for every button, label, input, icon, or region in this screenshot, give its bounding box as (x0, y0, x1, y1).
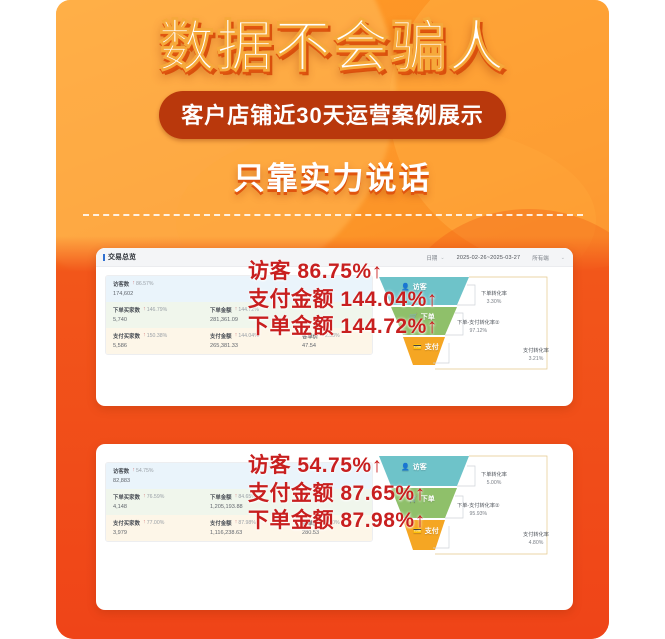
metric-cell[interactable]: 支付买家数 ↑ 150.38% 5,586 (106, 328, 203, 354)
conversion-label: 下单-支付转化率② (457, 503, 500, 511)
arrow-up-icon: ↑ (143, 494, 146, 500)
metric-label: 访客数 (113, 467, 129, 475)
metric-delta-value: 54.75% (136, 468, 154, 474)
conversion-value: 5.00% (487, 480, 502, 486)
highlight-value: 54.75% (297, 454, 371, 477)
arrow-up-icon: ↑ (132, 468, 135, 474)
arrow-up-icon: ↑ (427, 288, 438, 311)
metric-delta: ↑ 86.57% (132, 281, 153, 287)
card-title: 交易总览 (103, 252, 136, 262)
metric-cell[interactable]: 访客数 ↑ 86.57% 174,602 (106, 276, 203, 302)
title-accent-bar (103, 254, 105, 261)
metric-delta-value: 86.57% (136, 281, 154, 287)
highlight-line: 下单金额 87.98%↑ (248, 507, 426, 535)
terminal-filter-label: 所有端 (532, 254, 549, 262)
metric-delta-value: 146.79% (147, 307, 167, 313)
conversion-value: 97.12% (470, 328, 488, 334)
metric-delta-value: 77.00% (147, 520, 165, 526)
highlight-line: 支付金额 144.04%↑ (248, 286, 438, 314)
metric-delta: ↑ 150.38% (143, 333, 167, 339)
chevron-down-icon: ⌄ (440, 255, 444, 261)
conversion-label: 下单-支付转化率② (457, 320, 500, 328)
poster-page: 数据不会骗人 客户店铺近30天运营案例展示 只靠实力说话 交易总览 日期 ⌄ 2… (0, 0, 665, 639)
metric-value: 5,586 (113, 343, 203, 349)
chevron-down-icon-2[interactable]: ⌄ (561, 255, 565, 261)
highlight-value: 86.75% (297, 260, 371, 283)
highlight-value: 87.98% (340, 509, 414, 532)
highlight-line: 下单金额 144.72%↑ (248, 313, 438, 341)
highlight-label: 下单金额 (248, 509, 334, 532)
metric-value: 4,148 (113, 504, 203, 510)
poster-headline: 数据不会骗人 (56, 18, 609, 77)
arrow-up-icon: ↑ (143, 307, 146, 313)
conversion-label: 下单转化率 (481, 472, 507, 480)
terminal-filter[interactable]: 所有端 (532, 254, 549, 262)
metric-value: 174,602 (113, 291, 203, 297)
highlight-value: 144.72% (340, 315, 426, 338)
highlight-line: 支付金额 87.65%↑ (248, 480, 426, 508)
metric-label: 下单买家数 (113, 306, 140, 314)
conversion-rate-order-to-pay: 下单-支付转化率② 95.93% (457, 503, 500, 519)
conversion-label: 支付转化率 (523, 532, 549, 540)
conversion-rate-order-to-pay: 下单-支付转化率② 97.12% (457, 320, 500, 336)
arrow-up-icon: ↑ (372, 260, 383, 283)
metric-delta: ↑ 54.75% (132, 468, 153, 474)
metric-label: 下单买家数 (113, 493, 140, 501)
highlight-line: 访客 86.75%↑ (248, 258, 438, 286)
highlight-label: 访客 (248, 260, 291, 283)
arrow-up-icon: ↑ (132, 281, 135, 287)
highlight-label: 下单金额 (248, 315, 334, 338)
info-badge-icon[interactable]: ② (495, 320, 500, 326)
highlight-label: 访客 (248, 454, 291, 477)
poster-subline: 只靠实力说话 (56, 153, 609, 198)
highlight-label: 支付金额 (248, 482, 334, 505)
metric-label: 访客数 (113, 280, 129, 288)
metric-cell[interactable]: 支付买家数 ↑ 77.00% 3,979 (106, 515, 203, 541)
metric-label: 支付买家数 (113, 332, 140, 340)
arrow-up-icon: ↑ (415, 509, 426, 532)
arrow-up-icon: ↑ (415, 482, 426, 505)
metric-label: 支付金额 (210, 519, 232, 527)
metric-value: 82,883 (113, 478, 203, 484)
arrow-up-icon: ↑ (372, 454, 383, 477)
metric-cell[interactable]: 下单买家数 ↑ 146.79% 5,740 (106, 302, 203, 328)
arrow-up-icon: ↑ (427, 315, 438, 338)
metric-delta: ↑ 77.00% (143, 520, 164, 526)
metric-delta: ↑ 146.79% (143, 307, 167, 313)
conversion-rate-pay: 支付转化率 3.21% (523, 348, 549, 364)
info-badge-icon[interactable]: ② (495, 503, 500, 509)
metric-label: 支付买家数 (113, 519, 140, 527)
metric-delta: ↑ 76.59% (143, 494, 164, 500)
highlight-overlay-2: 访客 54.75%↑ 支付金额 87.65%↑ 下单金额 87.98%↑ (248, 452, 426, 535)
metric-value: 265,381.33 (210, 343, 295, 349)
conversion-label: 下单转化率 (481, 291, 507, 299)
arrow-up-icon: ↑ (235, 494, 238, 500)
metric-label: 支付金额 (210, 332, 232, 340)
funnel-stage-payments (403, 337, 445, 365)
conversion-value: 3.21% (529, 356, 544, 362)
poster-subtitle-pill: 客户店铺近30天运营案例展示 (159, 91, 505, 139)
arrow-up-icon: ↑ (143, 520, 146, 526)
metric-cell[interactable]: 访客数 ↑ 54.75% 82,883 (106, 463, 203, 489)
metric-value: 3,979 (113, 530, 203, 536)
metric-delta-value: 150.38% (147, 333, 167, 339)
date-range-value[interactable]: 2025-02-26~2025-03-27 (457, 255, 521, 261)
arrow-up-icon: ↑ (235, 307, 238, 313)
metric-label: 下单金额 (210, 493, 232, 501)
conversion-value: 3.30% (487, 299, 502, 305)
conversion-label-text: 下单-支付转化率 (457, 503, 495, 509)
conversion-label: 支付转化率 (523, 348, 549, 356)
card-title-text: 交易总览 (108, 252, 136, 262)
arrow-up-icon: ↑ (235, 333, 238, 339)
conversion-value: 4.80% (529, 540, 544, 546)
highlight-value: 144.04% (340, 288, 426, 311)
highlight-label: 支付金额 (248, 288, 334, 311)
conversion-rate-order: 下单转化率 5.00% (481, 472, 507, 488)
dashed-divider (83, 214, 583, 216)
metric-value: 5,740 (113, 317, 203, 323)
arrow-up-icon: ↑ (143, 333, 146, 339)
conversion-label-text: 下单-支付转化率 (457, 320, 495, 326)
card-filters: 日期 ⌄ 2025-02-26~2025-03-27 所有端 ⌄ (426, 248, 565, 267)
poster-header: 数据不会骗人 客户店铺近30天运营案例展示 只靠实力说话 (56, 0, 609, 216)
highlight-line: 访客 54.75%↑ (248, 452, 426, 480)
metric-cell[interactable]: 下单买家数 ↑ 76.59% 4,148 (106, 489, 203, 515)
metric-delta-value: 76.59% (147, 494, 165, 500)
metric-label: 下单金额 (210, 306, 232, 314)
arrow-up-icon: ↑ (235, 520, 238, 526)
conversion-value: 95.93% (470, 511, 488, 517)
highlight-value: 87.65% (340, 482, 414, 505)
metric-value: 47.54 (302, 343, 372, 349)
conversion-rate-pay: 支付转化率 4.80% (523, 532, 549, 548)
conversion-rate-order: 下单转化率 3.30% (481, 291, 507, 307)
highlight-overlay-1: 访客 86.75%↑ 支付金额 144.04%↑ 下单金额 144.72%↑ (248, 258, 438, 341)
